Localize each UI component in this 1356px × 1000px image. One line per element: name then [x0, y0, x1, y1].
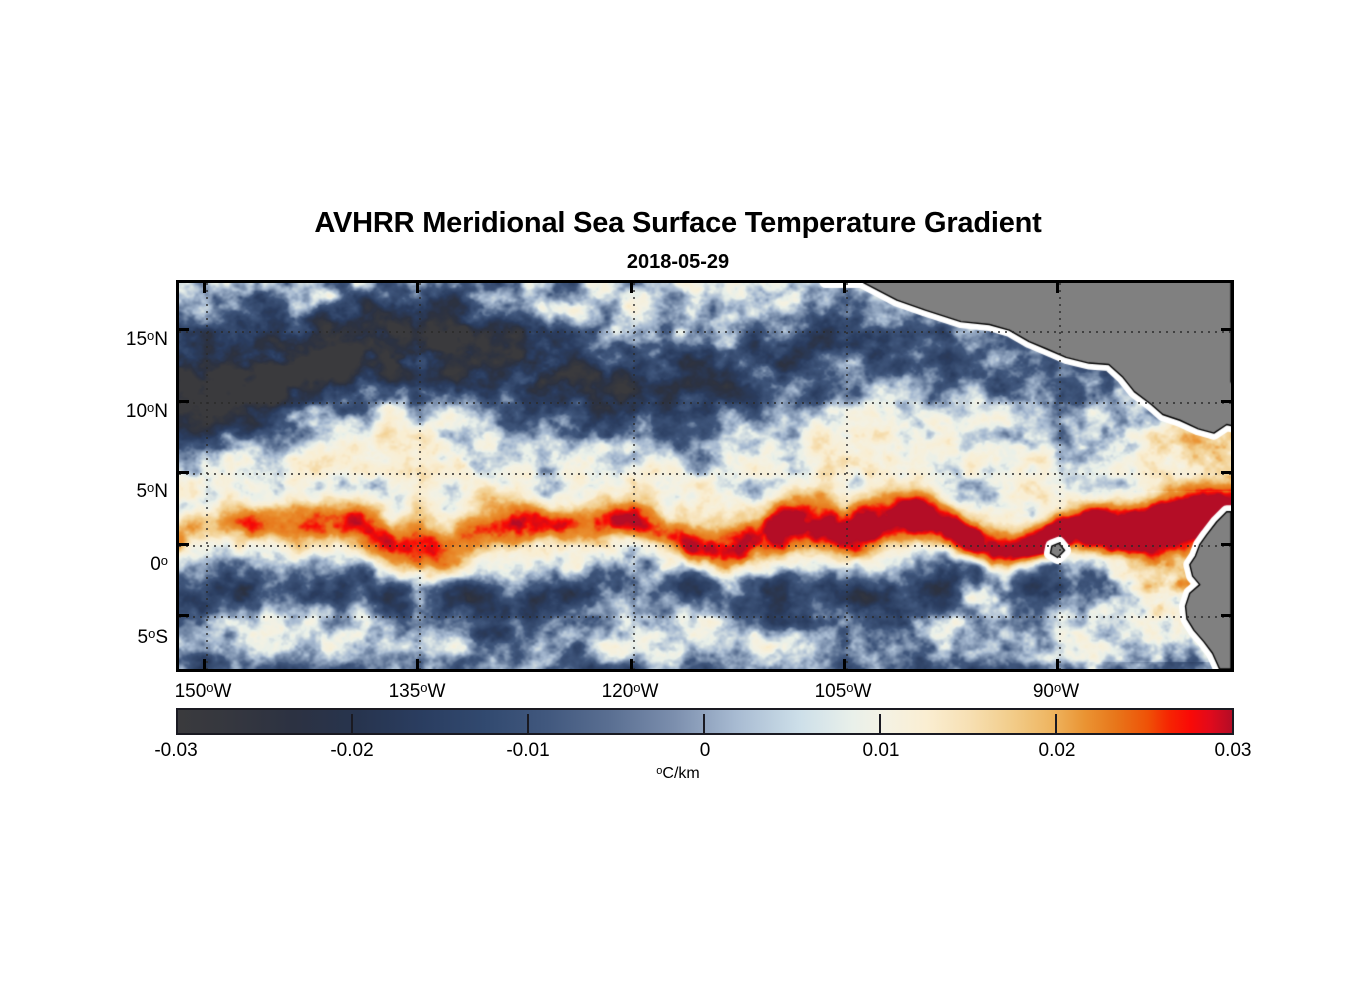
colorbar-label-0.01: 0.01: [831, 741, 931, 760]
y-tick-mark-right-10N: [1221, 400, 1234, 403]
y-tick-mark-10N: [176, 400, 189, 403]
colorbar-label--0.03: -0.03: [126, 741, 226, 760]
x-tick-value: 150: [175, 681, 207, 702]
title-block: AVHRR Meridional Sea Surface Temperature…: [0, 206, 1356, 274]
chart-subtitle-date: 2018-05-29: [0, 251, 1356, 274]
x-tick-suffix: W: [428, 681, 446, 702]
colorbar-label-0: 0: [655, 741, 755, 760]
x-tick-value: 90: [1033, 681, 1054, 702]
y-tick-suffix: N: [154, 481, 168, 502]
y-tick-value: 10: [126, 401, 147, 422]
page-title: AVHRR Meridional Sea Surface Temperature…: [0, 206, 1356, 240]
y-tick-suffix: N: [154, 401, 168, 422]
x-axis-label-90W: 90oW: [996, 678, 1116, 701]
x-tick-suffix: W: [214, 681, 232, 702]
y-axis-label-5S: 5oS: [138, 624, 169, 647]
degree-symbol-icon: o: [206, 680, 213, 695]
colorbar-tick--0.02: [351, 714, 353, 733]
x-tick-mark-top-135W: [416, 280, 419, 293]
x-tick-value: 135: [389, 681, 421, 702]
y-tick-value: 15: [126, 329, 147, 350]
colorbar-label-0.03: 0.03: [1183, 741, 1283, 760]
y-tick-value: 5: [136, 481, 147, 502]
y-tick-mark-right-0: [1221, 543, 1234, 546]
y-tick-suffix: S: [155, 627, 168, 648]
x-tick-mark-top-120W: [630, 280, 633, 293]
y-tick-mark-0: [176, 543, 189, 546]
x-axis-label-120W: 120oW: [570, 678, 690, 701]
sst-gradient-heatmap: [179, 283, 1231, 669]
x-axis-label-135W: 135oW: [357, 678, 477, 701]
x-tick-value: 120: [602, 681, 634, 702]
map-plot-area[interactable]: [176, 280, 1234, 672]
colorbar[interactable]: [176, 708, 1234, 735]
colorbar-tick-0.02: [1055, 714, 1057, 733]
y-tick-suffix: N: [154, 329, 168, 350]
x-tick-mark-150W: [203, 659, 206, 672]
x-tick-suffix: W: [641, 681, 659, 702]
y-axis-label-equator: 0o: [150, 551, 168, 574]
x-tick-suffix: W: [1061, 681, 1079, 702]
degree-symbol-icon: o: [161, 553, 168, 568]
colorbar-unit-text: C/km: [662, 765, 699, 782]
colorbar-tick-0: [703, 714, 705, 733]
y-tick-mark-5N: [176, 471, 189, 474]
colorbar-label--0.02: -0.02: [302, 741, 402, 760]
x-tick-mark-top-90W: [1056, 280, 1059, 293]
y-tick-value: 5: [138, 627, 149, 648]
degree-symbol-icon: o: [420, 680, 427, 695]
y-tick-mark-right-5N: [1221, 471, 1234, 474]
degree-symbol-icon: o: [846, 680, 853, 695]
x-tick-value: 105: [815, 681, 847, 702]
x-tick-mark-120W: [630, 659, 633, 672]
x-tick-mark-90W: [1056, 659, 1059, 672]
colorbar-label-0.02: 0.02: [1007, 741, 1107, 760]
x-axis-label-150W: 150oW: [143, 678, 263, 701]
y-tick-mark-15N: [176, 328, 189, 331]
y-axis-label-15N: 15oN: [126, 326, 168, 349]
x-tick-suffix: W: [854, 681, 872, 702]
y-tick-value: 0: [150, 554, 161, 575]
y-axis-label-5N: 5oN: [136, 478, 168, 501]
x-tick-mark-top-105W: [843, 280, 846, 293]
colorbar-tick-0.01: [879, 714, 881, 733]
y-tick-mark-right-5S: [1221, 614, 1234, 617]
colorbar-label--0.01: -0.01: [478, 741, 578, 760]
figure-canvas: AVHRR Meridional Sea Surface Temperature…: [0, 0, 1356, 1000]
colorbar-unit-label: oC/km: [0, 762, 1356, 783]
x-tick-mark-135W: [416, 659, 419, 672]
y-tick-mark-right-15N: [1221, 328, 1234, 331]
y-axis-label-10N: 10oN: [126, 398, 168, 421]
y-tick-mark-5S: [176, 614, 189, 617]
degree-symbol-icon: o: [633, 680, 640, 695]
x-axis-label-105W: 105oW: [783, 678, 903, 701]
x-tick-mark-top-150W: [203, 280, 206, 293]
x-tick-mark-105W: [843, 659, 846, 672]
colorbar-tick--0.01: [527, 714, 529, 733]
